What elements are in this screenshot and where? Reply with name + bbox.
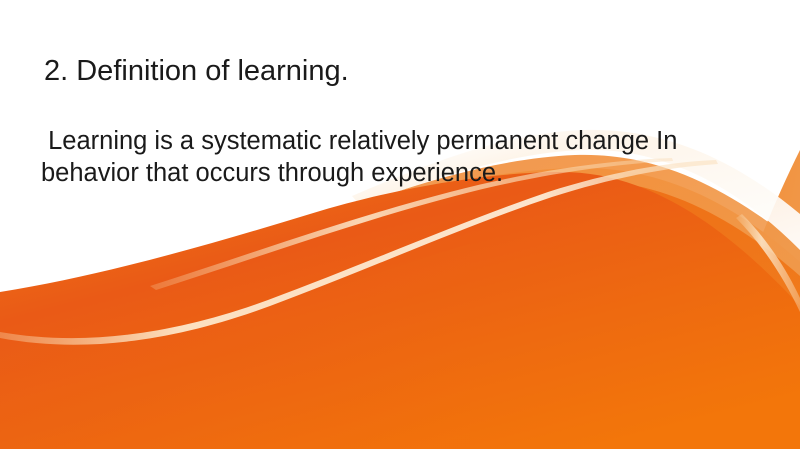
slide-canvas: 2. Definition of learning. Learning is a… bbox=[0, 0, 800, 449]
text-layer: 2. Definition of learning. Learning is a… bbox=[0, 0, 800, 449]
slide-body-text: Learning is a systematic relatively perm… bbox=[41, 125, 741, 189]
slide-title: 2. Definition of learning. bbox=[44, 54, 754, 88]
